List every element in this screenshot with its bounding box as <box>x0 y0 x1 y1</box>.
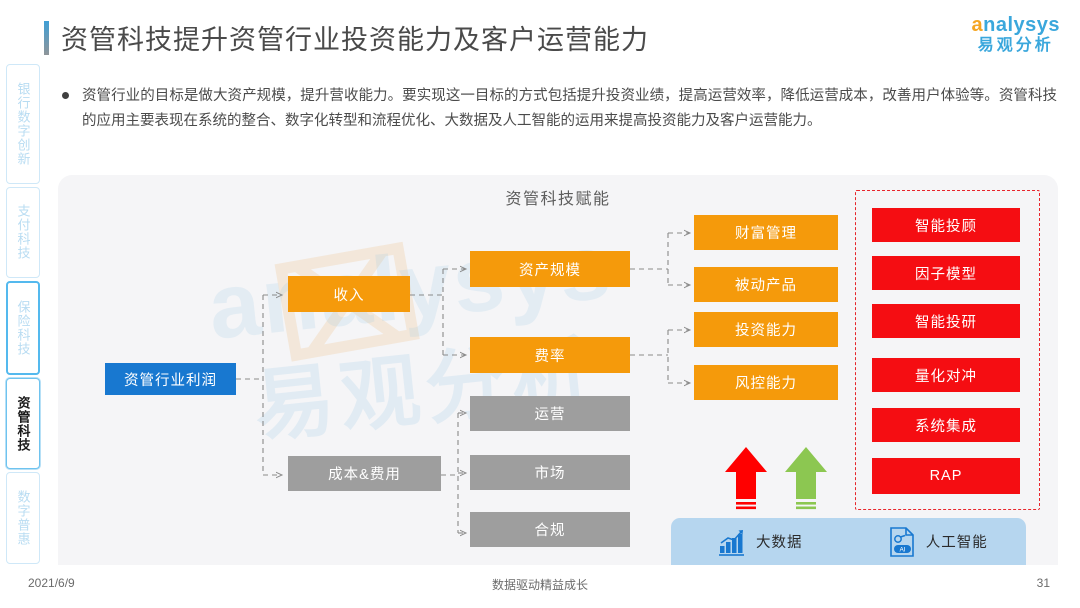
bar-chart-icon <box>717 527 747 557</box>
title-accent-bar <box>44 21 49 55</box>
node-label: 风控能力 <box>735 372 797 393</box>
node-label: 量化对冲 <box>915 365 977 386</box>
node-quant-hedging[interactable]: 量化对冲 <box>872 358 1020 392</box>
logo-accent-letter: a <box>971 14 983 36</box>
diagram-panel: ⌧ analysys 易观分析 资管科技赋能 <box>58 175 1058 565</box>
node-label: 投资能力 <box>735 319 797 340</box>
capability-ai[interactable]: AI 人工智能 <box>849 526 1027 558</box>
logo-rest-letters: nalysys <box>983 14 1060 36</box>
analysys-logo: analysys 易观分析 <box>971 14 1060 56</box>
sidebar-item-inclusive-finance[interactable]: 数字普惠 <box>6 472 40 564</box>
sidebar-item-label: 资管科技 <box>16 396 31 452</box>
node-rap[interactable]: RAP <box>872 458 1020 494</box>
node-label: 合规 <box>535 519 566 540</box>
node-operations[interactable]: 运营 <box>470 396 630 431</box>
node-label: 市场 <box>535 462 566 483</box>
bullet-paragraph-text: 资管行业的目标是做大资产规模，提升营收能力。要实现这一目标的方式包括提升投资业绩… <box>82 84 1057 134</box>
sidebar-item-label: 保险科技 <box>16 300 31 356</box>
sidebar-item-asset-management[interactable]: 资管科技 <box>6 378 40 470</box>
sidebar-item-insurance[interactable]: 保险科技 <box>6 281 40 375</box>
node-revenue[interactable]: 收入 <box>288 276 410 312</box>
node-smart-research[interactable]: 智能投研 <box>872 304 1020 338</box>
node-risk-control-capability[interactable]: 风控能力 <box>694 365 838 400</box>
svg-text:AI: AI <box>899 546 905 553</box>
bullet-dot-icon <box>62 92 69 99</box>
sidebar-item-label: 银行数字创新 <box>16 82 31 166</box>
node-label: 智能投顾 <box>915 215 977 236</box>
capability-label: 大数据 <box>756 531 803 552</box>
node-label: 收入 <box>334 284 365 305</box>
node-robo-advisor[interactable]: 智能投顾 <box>872 208 1020 242</box>
node-label: 系统集成 <box>915 415 977 436</box>
page-title-text: 资管科技提升资管行业投资能力及客户运营能力 <box>61 18 649 57</box>
footer-tagline: 数据驱动精益成长 <box>0 576 1080 593</box>
sidebar-item-label: 支付科技 <box>16 204 31 260</box>
node-label: 费率 <box>535 345 566 366</box>
footer: 2021/6/9 数据驱动精益成长 31 <box>0 576 1080 596</box>
node-cost-expense[interactable]: 成本&费用 <box>288 456 441 491</box>
node-label: 被动产品 <box>735 274 797 295</box>
logo-chinese-name: 易观分析 <box>971 36 1060 56</box>
page-title: 资管科技提升资管行业投资能力及客户运营能力 <box>44 18 649 57</box>
node-wealth-management[interactable]: 财富管理 <box>694 215 838 250</box>
sidebar-item-banking[interactable]: 银行数字创新 <box>6 64 40 184</box>
capability-bar: 大数据 AI 人工智能 <box>671 518 1026 565</box>
slide: 银行数字创新 支付科技 保险科技 资管科技 数字普惠 资管科技提升资管行业投资能… <box>0 0 1080 608</box>
node-label: 财富管理 <box>735 222 797 243</box>
sidebar-tab-rail: 银行数字创新 支付科技 保险科技 资管科技 数字普惠 <box>6 64 40 564</box>
node-label: 运营 <box>535 403 566 424</box>
node-label: 资产规模 <box>519 259 581 280</box>
footer-page-number: 31 <box>1037 576 1050 590</box>
node-factor-model[interactable]: 因子模型 <box>872 256 1020 290</box>
node-passive-products[interactable]: 被动产品 <box>694 267 838 302</box>
capability-big-data[interactable]: 大数据 <box>671 527 849 557</box>
node-label: 因子模型 <box>915 263 977 284</box>
node-label: RAP <box>930 468 963 484</box>
capability-label: 人工智能 <box>926 531 988 552</box>
node-system-integration[interactable]: 系统集成 <box>872 408 1020 442</box>
green-up-arrow-icon <box>783 445 829 513</box>
node-investment-capability[interactable]: 投资能力 <box>694 312 838 347</box>
ai-document-icon: AI <box>887 526 917 558</box>
sidebar-item-label: 数字普惠 <box>16 490 31 546</box>
logo-wordmark: analysys <box>971 14 1060 36</box>
node-asset-scale[interactable]: 资产规模 <box>470 251 630 287</box>
node-label: 资管行业利润 <box>124 369 217 390</box>
node-label: 成本&费用 <box>328 463 401 484</box>
bullet-paragraph: 资管行业的目标是做大资产规模，提升营收能力。要实现这一目标的方式包括提升投资业绩… <box>62 84 1057 134</box>
node-market[interactable]: 市场 <box>470 455 630 490</box>
node-compliance[interactable]: 合规 <box>470 512 630 547</box>
sidebar-item-payment[interactable]: 支付科技 <box>6 187 40 279</box>
node-label: 智能投研 <box>915 311 977 332</box>
node-fee-rate[interactable]: 费率 <box>470 337 630 373</box>
node-root-profit[interactable]: 资管行业利润 <box>105 363 236 395</box>
red-up-arrow-icon <box>723 445 769 513</box>
